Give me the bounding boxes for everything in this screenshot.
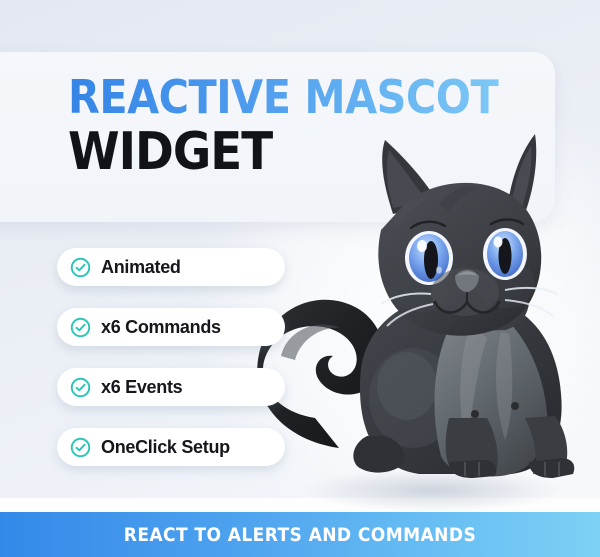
list-item[interactable]: OneClick Setup (57, 428, 285, 466)
list-item[interactable]: x6 Commands (57, 308, 285, 346)
list-item-label: x6 Events (101, 377, 182, 398)
banner-text: REACT TO ALERTS AND COMMANDS (124, 524, 476, 546)
list-item-label: x6 Commands (101, 317, 221, 338)
feature-list: Animated x6 Commands x6 Events OneClick … (57, 248, 285, 466)
circle-check-icon (70, 437, 91, 458)
list-item[interactable]: Animated (57, 248, 285, 286)
bottom-banner: REACT TO ALERTS AND COMMANDS (0, 512, 600, 557)
list-item-label: Animated (101, 257, 181, 278)
circle-check-icon (70, 317, 91, 338)
page-title: REACTIVE MASCOT WIDGET (68, 74, 538, 178)
poster-canvas: REACTIVE MASCOT WIDGET (0, 0, 600, 557)
circle-check-icon (70, 377, 91, 398)
title-line-2: WIDGET (68, 126, 538, 178)
list-item[interactable]: x6 Events (57, 368, 285, 406)
cat-mascot-illustration (243, 118, 600, 518)
title-line-1: REACTIVE MASCOT (68, 74, 538, 120)
circle-check-icon (70, 257, 91, 278)
list-item-label: OneClick Setup (101, 437, 230, 458)
